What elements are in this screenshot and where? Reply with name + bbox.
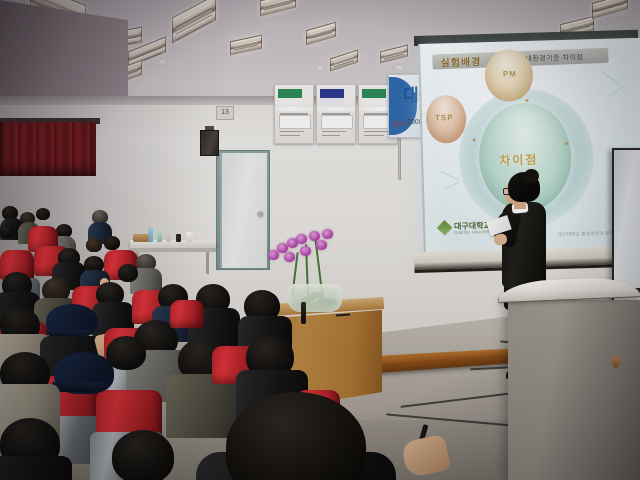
audience-head <box>0 226 14 238</box>
water-bottle <box>157 230 162 242</box>
orchid-pot <box>288 284 342 312</box>
ceiling-light <box>330 49 358 71</box>
paper-cup <box>186 232 193 242</box>
ceiling-vent <box>318 66 323 69</box>
diamond-logo-icon <box>437 220 453 236</box>
ceiling-vent <box>160 60 165 63</box>
table-apron <box>130 248 216 252</box>
wall-speaker <box>200 130 219 156</box>
slide-marker-dot <box>526 99 529 102</box>
slide-bubble-pm-label: PM <box>503 69 517 78</box>
orchid-bloom <box>300 246 311 256</box>
poster-center <box>316 84 356 144</box>
orchid-bloom <box>296 234 307 244</box>
room-number-sign: 13 <box>216 106 234 120</box>
lecture-hall-photo: 13 대구 대 <box>0 0 640 480</box>
ceiling-vent <box>396 66 402 69</box>
orchid-bloom <box>284 252 295 262</box>
audience-head <box>36 208 50 220</box>
presenter-hair-bun <box>524 169 539 183</box>
hall-door[interactable] <box>220 153 267 268</box>
orchid-bloom <box>268 250 279 260</box>
snack-tray <box>133 234 149 242</box>
orchid-bloom <box>322 229 333 239</box>
beverage-can <box>176 234 181 242</box>
ceiling-light <box>592 0 628 19</box>
ceiling-light <box>380 45 408 64</box>
audience-head <box>106 336 146 370</box>
ceiling-light <box>230 35 262 56</box>
orchid-bloom <box>316 240 327 250</box>
poster-left <box>274 84 314 144</box>
slide-marker-dot <box>473 138 476 141</box>
audience-torso <box>0 456 72 480</box>
slide-bubble-tsp-label: TSP <box>435 113 454 123</box>
ceiling-light <box>172 0 216 44</box>
audience-head <box>118 264 138 282</box>
banner-date-label: 일시 <box>393 119 406 129</box>
poster-group <box>274 84 396 146</box>
lectern <box>508 300 640 480</box>
ceiling-light <box>260 0 296 16</box>
slide-title: 실험배경 <box>440 53 481 69</box>
door-handle[interactable] <box>258 212 263 217</box>
audience-head <box>104 236 120 250</box>
paper-cup <box>166 235 171 242</box>
ceiling-light <box>128 36 166 67</box>
microphone[interactable] <box>301 302 306 324</box>
auditorium-seat <box>170 300 204 328</box>
stage-curtain <box>0 122 96 176</box>
cap-brim <box>52 382 104 392</box>
slide-center-label: 차이점 <box>499 151 539 169</box>
whiteboard <box>612 148 640 302</box>
table-leg <box>206 252 209 274</box>
slide-marker-dot <box>565 142 568 145</box>
ceiling-light <box>306 22 336 46</box>
audience-head <box>112 430 174 480</box>
lectern-knob[interactable] <box>612 356 620 368</box>
audience-head <box>86 238 102 252</box>
